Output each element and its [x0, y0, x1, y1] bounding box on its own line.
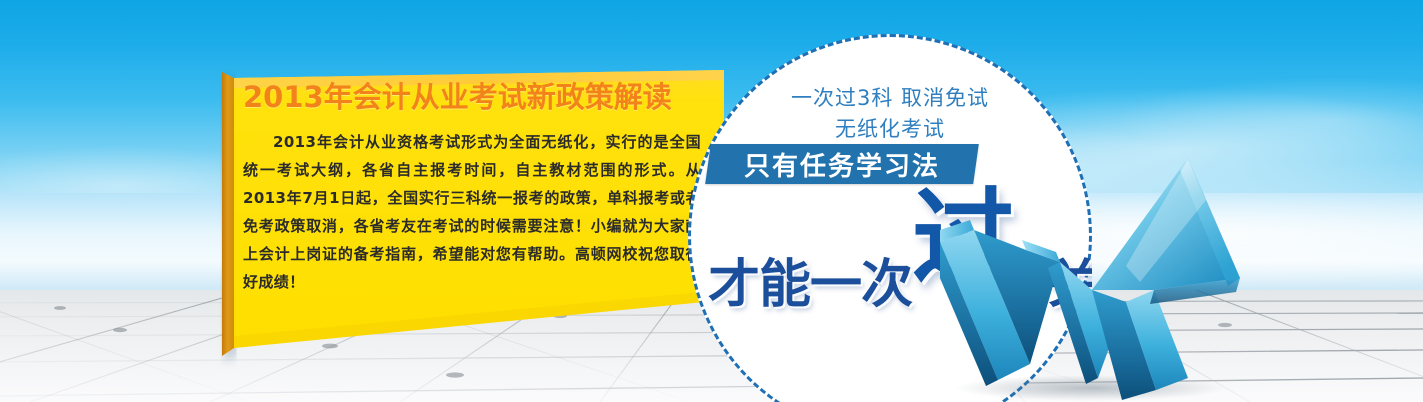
upward-zigzag-arrow: [940, 150, 1260, 402]
card-text-block: 2013年会计从业考试新政策解读 2013年会计从业资格考试形式为全面无纸化，实…: [243, 82, 705, 322]
card-body-text: 2013年会计从业资格考试形式为全面无纸化，实行的是全国统一考试大纲，各省自主报…: [243, 128, 701, 296]
card-left-bevel: [222, 72, 234, 356]
badge-tagline-line1: 一次过3科 取消免试: [688, 82, 1092, 112]
promo-banner: 2013年会计从业考试新政策解读 2013年会计从业资格考试形式为全面无纸化，实…: [0, 0, 1423, 402]
card-title: 2013年会计从业考试新政策解读: [243, 82, 705, 114]
slogan-lead-text: 才能一次: [708, 242, 912, 317]
badge-tagline-line2: 无纸化考试: [688, 113, 1092, 143]
arrow-icon: [940, 150, 1260, 402]
